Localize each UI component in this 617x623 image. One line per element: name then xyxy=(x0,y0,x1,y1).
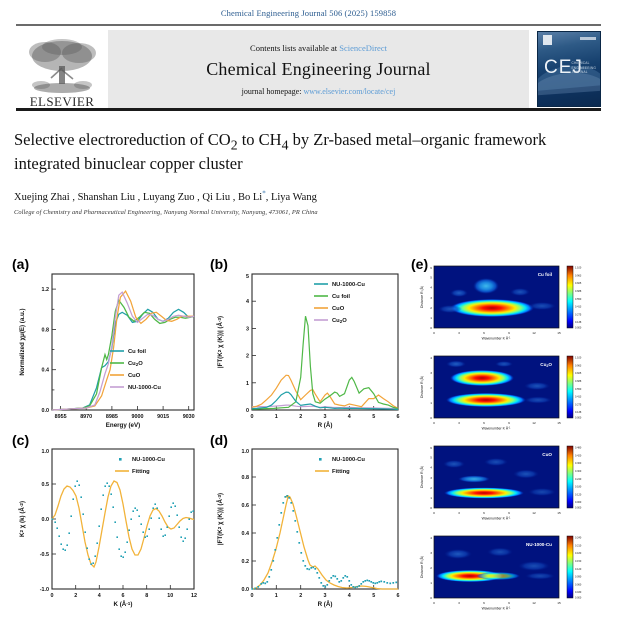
svg-text:0.275: 0.275 xyxy=(575,313,582,316)
svg-text:3: 3 xyxy=(324,414,327,420)
journal-masthead: ELSEVIER Contents lists available at Sci… xyxy=(16,30,601,108)
svg-text:15: 15 xyxy=(557,601,561,605)
svg-text:9015: 9015 xyxy=(157,414,169,420)
svg-text:0.060: 0.060 xyxy=(575,583,582,586)
panel-c-label: (c) xyxy=(12,432,29,448)
legend-d-1: Fitting xyxy=(332,469,350,475)
svg-text:4: 4 xyxy=(98,593,101,599)
svg-text:0.138: 0.138 xyxy=(575,411,582,414)
svg-text:5: 5 xyxy=(372,414,375,420)
heatmap-3-ylabel: Distance R (Å) xyxy=(419,466,424,488)
journal-title: Chemical Engineering Journal xyxy=(206,56,431,84)
panel-d-xlabel: R (Å) xyxy=(318,601,333,608)
article-title: Selective electroreduction of CO2 to CH4… xyxy=(14,129,603,175)
panel-a-plot: 0.00.4 0.81.2 895589708985 900090159030 … xyxy=(8,258,206,433)
heatmap-4-title: NU-1000-Cu xyxy=(526,542,552,547)
masthead-center: Contents lists available at ScienceDirec… xyxy=(108,30,529,108)
figure-1: (a) 0.00.4 0.81.2 xyxy=(8,258,609,618)
svg-text:2: 2 xyxy=(430,486,432,490)
svg-text:0: 0 xyxy=(433,331,435,335)
elsevier-wordmark: ELSEVIER xyxy=(30,94,95,108)
journal-homepage-link[interactable]: www.elsevier.com/locate/cej xyxy=(303,87,395,96)
panel-c-xlabel: K (Å-1) xyxy=(114,601,133,609)
legend-d-0: NU-1000-Cu xyxy=(332,457,365,463)
affiliation: College of Chemistry and Pharmaceutical … xyxy=(14,209,603,216)
legend-c-1: Fitting xyxy=(132,469,150,475)
svg-text:15: 15 xyxy=(557,511,561,515)
header-rule-bottom xyxy=(16,108,601,111)
author-list: Xuejing Zhai , Shanshan Liu , Luyang Zuo… xyxy=(14,190,603,204)
legend-a-3: NU-1000-Cu xyxy=(128,385,161,391)
heatmap-cu-foil: Cu foil 012 3456 036 91215 Wavenumber K … xyxy=(419,266,582,341)
heatmap-4-xlabel: Wavenumber K Å-1 xyxy=(482,606,511,611)
svg-text:6: 6 xyxy=(430,446,432,450)
svg-text:0.000: 0.000 xyxy=(575,597,582,600)
svg-text:0.413: 0.413 xyxy=(575,306,582,309)
svg-text:15: 15 xyxy=(557,331,561,335)
svg-text:0.825: 0.825 xyxy=(575,372,582,375)
svg-text:6: 6 xyxy=(397,414,400,420)
heatmap-3-xlabel: Wavenumber K Å-1 xyxy=(482,516,511,521)
panel-a: (a) 0.00.4 0.81.2 xyxy=(8,258,206,433)
header-rule-top xyxy=(16,24,601,26)
panel-b-plot: 012 345 012 3456 R (Å) |FT(K2 χ (K))| (Å… xyxy=(206,258,412,433)
svg-text:4: 4 xyxy=(430,536,432,540)
heatmap-4-colorbar: 0.2400.2100.180 0.1500.1200.090 0.0600.0… xyxy=(567,536,582,600)
panel-b-ylabel: |FT(K2 χ (K))| (Å-3) xyxy=(217,316,225,368)
heatmap-3-colorbar: 0.4800.4200.360 0.3000.2400.180 0.1200.0… xyxy=(567,446,582,510)
svg-text:3: 3 xyxy=(430,296,432,300)
heatmap-cu2o: Cu2O 012 34 036 91215 Wavenumber K Å-1 D… xyxy=(419,356,582,431)
svg-text:1.0: 1.0 xyxy=(242,449,250,455)
svg-text:1.100: 1.100 xyxy=(575,357,582,360)
svg-text:0: 0 xyxy=(251,414,254,420)
svg-text:0.275: 0.275 xyxy=(575,403,582,406)
svg-text:0.688: 0.688 xyxy=(575,380,582,383)
panel-b-xlabel: R (Å) xyxy=(318,422,333,429)
svg-text:0.480: 0.480 xyxy=(575,447,582,450)
heatmap-1-title: Cu foil xyxy=(538,272,552,277)
svg-text:0.120: 0.120 xyxy=(575,493,582,496)
svg-text:4: 4 xyxy=(430,466,432,470)
panel-d-ylabel: |FT(K2 χ (K))| (Å-3) xyxy=(217,493,225,545)
panel-c-ylabel: K2 χ (k) (Å-2) xyxy=(19,501,27,537)
heatmap-1-colorbar: 1.1000.9630.825 0.6880.5500.413 0.2750.1… xyxy=(567,266,582,330)
legend-b-0: NU-1000-Cu xyxy=(332,282,365,288)
svg-text:0.688: 0.688 xyxy=(575,290,582,293)
svg-text:0.000: 0.000 xyxy=(575,507,582,510)
svg-text:0.825: 0.825 xyxy=(575,282,582,285)
svg-text:3: 3 xyxy=(430,551,432,555)
panel-a-ylabel: Normalized χμ(E) (a.u.) xyxy=(19,308,26,375)
svg-text:1.0: 1.0 xyxy=(42,449,50,455)
panel-e-heatmaps: Cu foil 012 3456 036 91215 Wavenumber K … xyxy=(412,258,609,618)
svg-text:12: 12 xyxy=(532,601,536,605)
running-head: Chemical Engineering Journal 506 (2025) … xyxy=(0,0,617,18)
svg-text:2: 2 xyxy=(430,306,432,310)
cej-cover-image: CEJ CHEMICAL ENGINEERING JOURNAL xyxy=(537,31,601,107)
svg-text:5: 5 xyxy=(246,274,249,280)
svg-text:0.2: 0.2 xyxy=(242,559,250,565)
svg-text:0.300: 0.300 xyxy=(575,470,582,473)
svg-text:1.100: 1.100 xyxy=(575,267,582,270)
heatmap-2-xlabel: Wavenumber K Å-1 xyxy=(482,426,511,431)
svg-text:0.138: 0.138 xyxy=(575,321,582,324)
svg-text:3: 3 xyxy=(430,476,432,480)
svg-text:-0.5: -0.5 xyxy=(40,552,49,558)
svg-text:0.210: 0.210 xyxy=(575,544,582,547)
svg-text:2: 2 xyxy=(74,593,77,599)
svg-text:0.8: 0.8 xyxy=(242,475,250,481)
svg-text:9: 9 xyxy=(508,511,510,515)
svg-text:0: 0 xyxy=(433,601,435,605)
svg-text:3: 3 xyxy=(458,511,460,515)
svg-text:0: 0 xyxy=(433,511,435,515)
panel-a-xlabel: Energy (eV) xyxy=(106,422,140,429)
legend-b-2: CuO xyxy=(332,306,345,312)
svg-text:12: 12 xyxy=(532,511,536,515)
svg-text:8955: 8955 xyxy=(55,414,67,420)
cej-cover-issn-bar xyxy=(580,37,596,40)
heatmap-cuo: CuO 012 3456 036 91215 Wavenumber K Å-1 … xyxy=(419,446,582,521)
svg-text:0: 0 xyxy=(430,416,432,420)
svg-text:4: 4 xyxy=(246,299,249,305)
svg-text:0.5: 0.5 xyxy=(42,482,50,488)
svg-text:0: 0 xyxy=(430,506,432,510)
svg-text:0.963: 0.963 xyxy=(575,364,582,367)
elsevier-tree-icon xyxy=(21,38,103,94)
svg-text:6: 6 xyxy=(483,421,485,425)
svg-text:4: 4 xyxy=(430,356,432,360)
heatmap-1-xlabel: Wavenumber K Å-1 xyxy=(482,336,511,341)
svg-text:1: 1 xyxy=(430,496,432,500)
svg-text:2: 2 xyxy=(430,386,432,390)
svg-text:9030: 9030 xyxy=(183,414,195,420)
svg-text:2: 2 xyxy=(299,593,302,599)
svg-text:9: 9 xyxy=(508,331,510,335)
svg-text:0.0: 0.0 xyxy=(42,408,50,414)
svg-text:3: 3 xyxy=(324,593,327,599)
svg-text:12: 12 xyxy=(532,331,536,335)
svg-text:0.150: 0.150 xyxy=(575,560,582,563)
svg-text:2: 2 xyxy=(299,414,302,420)
heatmap-4-ylabel: Distance R (Å) xyxy=(419,556,424,578)
svg-text:0.4: 0.4 xyxy=(242,531,250,537)
legend-a-1: Cu2O xyxy=(128,361,143,367)
svg-text:1: 1 xyxy=(275,414,278,420)
svg-text:15: 15 xyxy=(557,421,561,425)
elsevier-logo: ELSEVIER xyxy=(16,30,108,108)
svg-text:0.060: 0.060 xyxy=(575,501,582,504)
svg-text:12: 12 xyxy=(191,593,197,599)
svg-text:3: 3 xyxy=(246,326,249,332)
svg-text:4: 4 xyxy=(348,593,351,599)
svg-text:0.420: 0.420 xyxy=(575,454,582,457)
svg-text:0.0: 0.0 xyxy=(242,587,250,593)
panel-d-label: (d) xyxy=(210,432,228,448)
svg-text:0.8: 0.8 xyxy=(42,327,50,333)
svg-text:0.0: 0.0 xyxy=(42,517,50,523)
heatmap-2-ylabel: Distance R (Å) xyxy=(419,376,424,398)
svg-text:3: 3 xyxy=(458,331,460,335)
svg-text:-1.0: -1.0 xyxy=(40,587,49,593)
svg-text:1: 1 xyxy=(275,593,278,599)
legend-c-0: NU-1000-Cu xyxy=(132,457,165,463)
panel-b-label: (b) xyxy=(210,256,228,272)
svg-text:0.550: 0.550 xyxy=(575,298,582,301)
svg-text:0: 0 xyxy=(430,596,432,600)
svg-text:1: 1 xyxy=(430,401,432,405)
svg-text:0.180: 0.180 xyxy=(575,486,582,489)
svg-text:0.963: 0.963 xyxy=(575,274,582,277)
svg-text:5: 5 xyxy=(372,593,375,599)
heatmap-2-title: Cu2O xyxy=(540,362,552,368)
panel-d-plot: 0.00.20.4 0.60.81.0 012 3456 R (Å) |FT(K… xyxy=(206,433,412,618)
svg-text:10: 10 xyxy=(167,593,173,599)
svg-text:9: 9 xyxy=(508,601,510,605)
svg-text:6: 6 xyxy=(397,593,400,599)
svg-text:1: 1 xyxy=(246,381,249,387)
svg-text:12: 12 xyxy=(532,421,536,425)
heatmap-nu1000cu: NU-1000-Cu 012 34 036 91215 Wavenumber K… xyxy=(419,536,582,611)
cej-cover-subtitle: CHEMICAL ENGINEERING JOURNAL xyxy=(571,61,596,75)
legend-a-0: Cu foil xyxy=(128,349,146,355)
svg-text:5: 5 xyxy=(430,275,432,279)
svg-text:0.030: 0.030 xyxy=(575,591,582,594)
svg-text:4: 4 xyxy=(430,286,432,290)
svg-text:6: 6 xyxy=(483,331,485,335)
svg-text:2: 2 xyxy=(246,354,249,360)
svg-text:0: 0 xyxy=(251,593,254,599)
cej-cover-elsevier-mark xyxy=(543,35,552,45)
svg-text:0: 0 xyxy=(433,421,435,425)
svg-text:0.413: 0.413 xyxy=(575,396,582,399)
svg-text:3: 3 xyxy=(458,421,460,425)
svg-text:6: 6 xyxy=(483,511,485,515)
svg-text:0.000: 0.000 xyxy=(575,327,582,330)
contents-line: Contents lists available at ScienceDirec… xyxy=(250,43,387,53)
svg-text:1.2: 1.2 xyxy=(42,287,50,293)
svg-text:0.180: 0.180 xyxy=(575,552,582,555)
journal-homepage-line: journal homepage: www.elsevier.com/locat… xyxy=(242,87,396,96)
svg-text:0.6: 0.6 xyxy=(242,503,250,509)
svg-text:0.120: 0.120 xyxy=(575,568,582,571)
svg-text:9: 9 xyxy=(508,421,510,425)
svg-text:5: 5 xyxy=(430,455,432,459)
panel-b: (b) 012 345 xyxy=(206,258,412,433)
svg-text:8970: 8970 xyxy=(80,414,92,420)
heatmap-2-colorbar: 1.1000.9630.825 0.6880.5500.413 0.2750.1… xyxy=(567,356,582,420)
svg-text:9000: 9000 xyxy=(132,414,144,420)
svg-text:6: 6 xyxy=(430,266,432,270)
svg-text:3: 3 xyxy=(458,601,460,605)
svg-text:2: 2 xyxy=(430,566,432,570)
panel-d: (d) 0.00.20.4 0.60.81.0 xyxy=(206,433,412,618)
article-header: Selective electroreduction of CO2 to CH4… xyxy=(14,129,603,217)
authors-text: Xuejing Zhai , Shanshan Liu , Luyang Zuo… xyxy=(14,192,317,203)
svg-text:1: 1 xyxy=(430,581,432,585)
legend-b-3: Cu2O xyxy=(332,318,347,324)
svg-text:4: 4 xyxy=(348,414,351,420)
svg-text:0: 0 xyxy=(51,593,54,599)
panel-c: (c) -1.0-0.5 0.00.51.0 xyxy=(8,433,206,618)
legend-b-1: Cu foil xyxy=(332,294,350,300)
svg-text:0.360: 0.360 xyxy=(575,462,582,465)
svg-text:0.240: 0.240 xyxy=(575,537,582,540)
svg-text:6: 6 xyxy=(483,601,485,605)
svg-text:0.550: 0.550 xyxy=(575,388,582,391)
panel-e-label: (e) xyxy=(411,256,428,272)
svg-text:0.240: 0.240 xyxy=(575,478,582,481)
panel-e: (e) xyxy=(412,258,609,618)
svg-text:0.000: 0.000 xyxy=(575,417,582,420)
svg-text:8: 8 xyxy=(145,593,148,599)
svg-text:6: 6 xyxy=(122,593,125,599)
panel-a-label: (a) xyxy=(12,256,29,272)
heatmap-1-ylabel: Distance R (Å) xyxy=(419,286,424,308)
homepage-prefix: journal homepage: xyxy=(242,87,304,96)
svg-text:8985: 8985 xyxy=(106,414,118,420)
panel-c-plot: -1.0-0.5 0.00.51.0 024 681012 K (Å-1) K2… xyxy=(8,433,206,618)
legend-a-2: CuO xyxy=(128,373,141,379)
svg-text:0.4: 0.4 xyxy=(42,368,50,374)
svg-text:1: 1 xyxy=(430,316,432,320)
svg-text:3: 3 xyxy=(430,371,432,375)
contents-prefix: Contents lists available at xyxy=(250,43,339,53)
svg-text:0.090: 0.090 xyxy=(575,576,582,579)
svg-text:0: 0 xyxy=(430,326,432,330)
sciencedirect-link[interactable]: ScienceDirect xyxy=(339,43,387,53)
svg-text:0: 0 xyxy=(246,408,249,414)
heatmap-3-title: CuO xyxy=(542,452,552,457)
journal-cover-thumb: CEJ CHEMICAL ENGINEERING JOURNAL xyxy=(537,30,601,108)
